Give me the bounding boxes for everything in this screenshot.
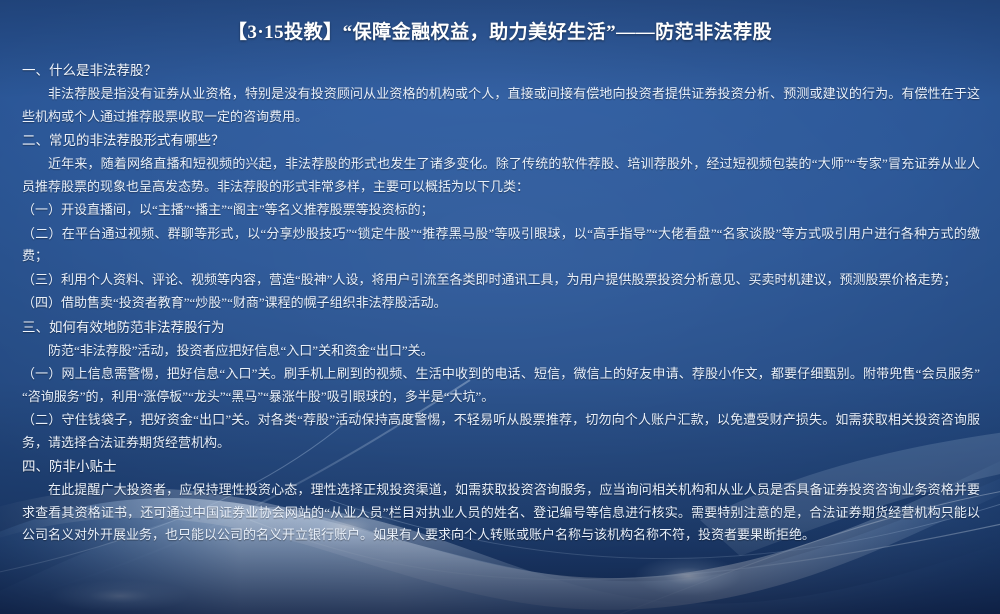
list-item: （一）开设直播间，以“主播”“播主”“阁主”等名义推荐股票等投资标的； bbox=[16, 199, 984, 222]
section-heading: 三、如何有效地防范非法荐股行为 bbox=[16, 317, 984, 339]
list-item: （三）利用个人资料、评论、视频等内容，营造“股神”人设，将用户引流至各类即时通讯… bbox=[16, 269, 984, 292]
section-paragraph: 在此提醒广大投资者，应保持理性投资心态，理性选择正规投资渠道，如需获取投资咨询服… bbox=[16, 479, 984, 547]
list-item: （二）在平台通过视频、群聊等形式，以“分享炒股技巧”“锁定牛股”“推荐黑马股”等… bbox=[16, 223, 984, 268]
section-heading: 二、常见的非法荐股形式有哪些？ bbox=[16, 130, 984, 152]
section-paragraph: 防范“非法荐股”活动，投资者应把好信息“入口”关和资金“出口”关。 bbox=[16, 340, 984, 363]
section-heading: 四、防非小贴士 bbox=[16, 456, 984, 478]
poster-root: 【3·15投教】“保障金融权益，助力美好生活”——防范非法荐股 一、什么是非法荐… bbox=[0, 0, 1000, 614]
list-item: （一）网上信息需警惕，把好信息“入口”关。刷手机上刷到的视频、生活中收到的电话、… bbox=[16, 363, 984, 408]
poster-content: 【3·15投教】“保障金融权益，助力美好生活”——防范非法荐股 一、什么是非法荐… bbox=[0, 0, 1000, 547]
section-heading: 一、什么是非法荐股？ bbox=[16, 60, 984, 82]
section-tips: 四、防非小贴士 在此提醒广大投资者，应保持理性投资心态，理性选择正规投资渠道，如… bbox=[16, 456, 984, 547]
section-paragraph: 非法荐股是指没有证券从业资格，特别是没有投资顾问从业资格的机构或个人，直接或间接… bbox=[16, 83, 984, 128]
section-what-is-illegal-stock-recommendation: 一、什么是非法荐股？ 非法荐股是指没有证券从业资格，特别是没有投资顾问从业资格的… bbox=[16, 60, 984, 128]
page-title: 【3·15投教】“保障金融权益，助力美好生活”——防范非法荐股 bbox=[16, 18, 984, 48]
list-item: （二）守住钱袋子，把好资金“出口”关。对各类“荐股”活动保持高度警惕，不轻易听从… bbox=[16, 409, 984, 454]
list-item: （四）借助售卖“投资者教育”“炒股”“财商”课程的幌子组织非法荐股活动。 bbox=[16, 292, 984, 315]
section-common-forms: 二、常见的非法荐股形式有哪些？ 近年来，随着网络直播和短视频的兴起，非法荐股的形… bbox=[16, 130, 984, 315]
section-how-to-prevent: 三、如何有效地防范非法荐股行为 防范“非法荐股”活动，投资者应把好信息“入口”关… bbox=[16, 317, 984, 455]
section-paragraph: 近年来，随着网络直播和短视频的兴起，非法荐股的形式也发生了诸多变化。除了传统的软… bbox=[16, 153, 984, 198]
